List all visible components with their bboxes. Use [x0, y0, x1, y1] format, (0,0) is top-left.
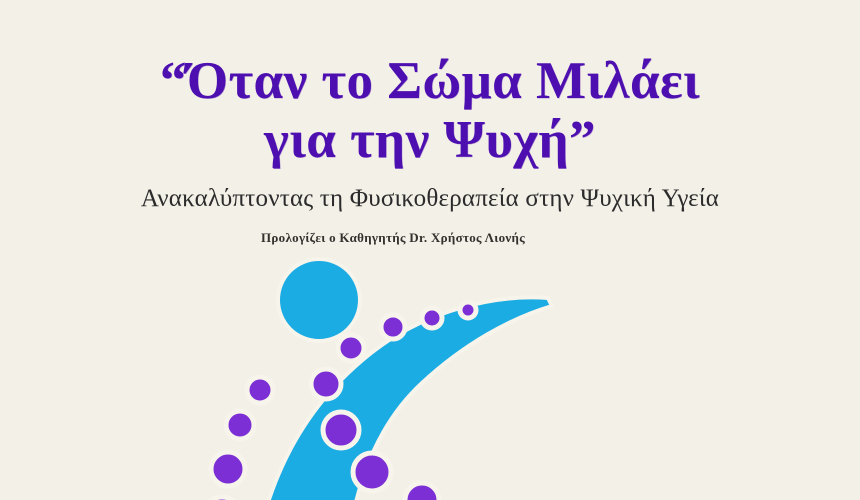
- foreword-credit: Προλογίζει ο Καθηγητής Dr. Χρήστος Λιονή…: [0, 212, 860, 246]
- human-figure-logo: [196, 248, 556, 500]
- title-line-1: “Όταν το Σώμα Μιλάει: [0, 52, 860, 111]
- page-title: “Όταν το Σώμα Μιλάει για την Ψυχή”: [0, 0, 860, 171]
- purple-dot-arc-left: [203, 377, 273, 500]
- logo-svg: [196, 248, 556, 500]
- blue-circle-head-icon: [278, 259, 360, 341]
- title-line-2: για την Ψυχή”: [0, 111, 860, 170]
- poster-text-block: “Όταν το Σώμα Μιλάει για την Ψυχή” Ανακα…: [0, 0, 860, 246]
- poster-canvas: “Όταν το Σώμα Μιλάει για την Ψυχή” Ανακα…: [0, 0, 860, 500]
- page-subtitle: Ανακαλύπτοντας τη Φυσικοθεραπεία στην Ψυ…: [0, 171, 860, 213]
